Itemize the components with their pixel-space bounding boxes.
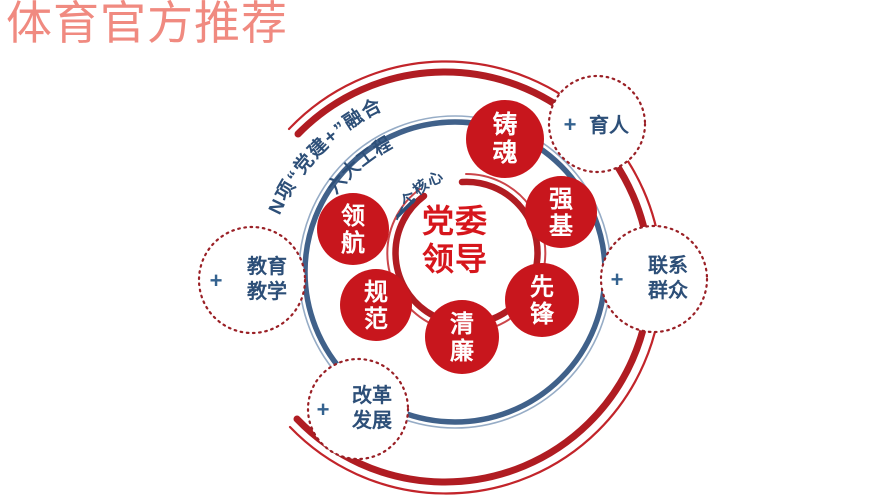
project-node-xianfeng-line2: 锋 <box>530 300 555 328</box>
fusion-node-gaigefazhan-line2: 发展 <box>351 408 392 432</box>
fusion-node-lianxiqunzhong-line1: 联系 <box>648 254 688 277</box>
project-node-linghang-line1: 领 <box>341 202 365 230</box>
fusion-node-jiaoyujiaoxue-line2: 教学 <box>247 279 287 303</box>
fusion-node-yuren[interactable]: + 育人 <box>549 76 645 172</box>
project-node-xianfeng[interactable]: 先 锋 <box>505 263 579 337</box>
plus-icon: + <box>210 268 223 293</box>
diagram-canvas: 体育官方推荐 N项“党建+”融合 <box>0 0 889 500</box>
project-node-qinglian-line2: 廉 <box>450 337 474 365</box>
fusion-node-jiaoyujiaoxue-line1: 教育 <box>247 254 287 278</box>
project-node-zhuhun-line2: 魂 <box>492 138 517 167</box>
fusion-node-gaigefazhan[interactable]: + 改革 发展 <box>308 359 408 459</box>
project-node-qiangji[interactable]: 强 基 <box>525 176 597 248</box>
fusion-node-jiaoyujiaoxue[interactable]: + 教育 教学 <box>199 227 305 333</box>
project-node-linghang-line2: 航 <box>341 229 365 257</box>
project-node-guifan[interactable]: 规 范 <box>340 269 412 341</box>
project-node-zhuhun[interactable]: 铸 魂 <box>466 100 544 178</box>
project-node-zhuhun-line1: 铸 <box>492 111 517 139</box>
project-node-guifan-line2: 范 <box>364 306 388 333</box>
project-node-guifan-line1: 规 <box>364 279 388 306</box>
project-node-qiangji-line2: 基 <box>549 213 574 240</box>
party-building-diagram: N项“党建+”融合 六大工程 一个核心 铸 魂 强 基 <box>0 0 889 500</box>
plus-icon: + <box>611 267 624 292</box>
fusion-node-gaigefazhan-line1: 改革 <box>352 383 392 407</box>
project-node-qinglian[interactable]: 清 廉 <box>425 300 499 374</box>
plus-icon: + <box>564 112 577 137</box>
fusion-node-yuren-label: 育人 <box>589 113 630 137</box>
project-node-qinglian-line1: 清 <box>450 311 474 338</box>
core-title-line1: 党委 <box>422 203 488 239</box>
fusion-node-lianxiqunzhong[interactable]: + 联系 群众 <box>601 226 707 332</box>
plus-icon: + <box>317 397 330 422</box>
project-node-xianfeng-line1: 先 <box>530 274 554 301</box>
project-node-linghang[interactable]: 领 航 <box>317 193 389 265</box>
core-title: 党委 领导 <box>422 203 488 277</box>
core-title-line2: 领导 <box>422 241 488 277</box>
project-node-qiangji-line1: 强 <box>549 186 573 213</box>
fusion-node-lianxiqunzhong-line2: 群众 <box>647 278 688 302</box>
